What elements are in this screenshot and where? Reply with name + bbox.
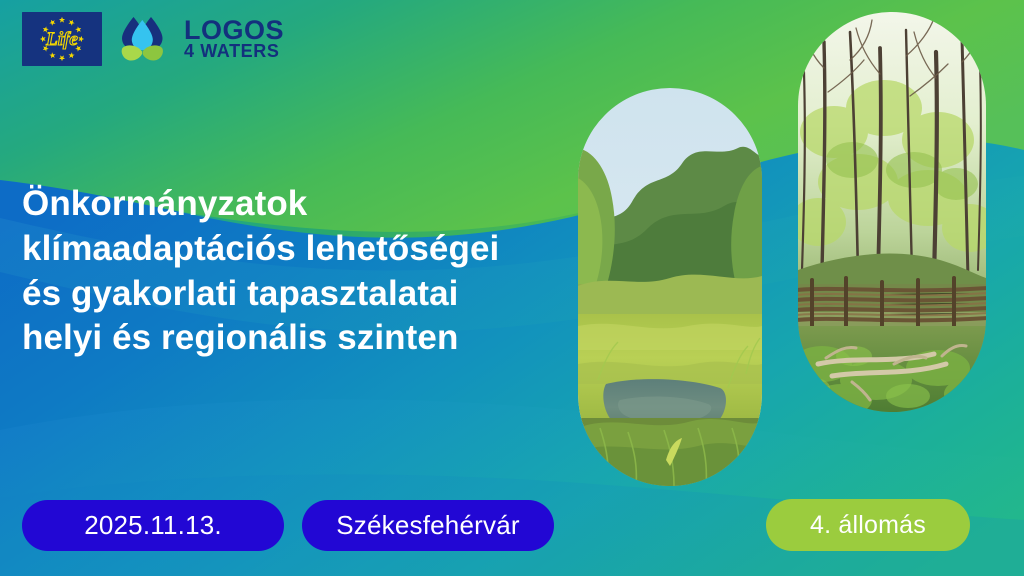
badge-city-label: Székesfehérvár [336,510,519,541]
badge-date[interactable]: 2025.11.13. [22,500,284,551]
poster-canvas: Life LOGOS 4 WATERS Önkormányzatok klíma… [0,0,1024,576]
logos-wordmark-line1: LOGOS [184,18,284,43]
photo-forest-fence [798,12,986,412]
badge-station-label: 4. állomás [810,511,926,540]
eu-life-logo: Life [22,12,102,66]
logo-row: Life LOGOS 4 WATERS [22,12,284,66]
badge-date-label: 2025.11.13. [84,510,222,541]
photo-wetland [578,88,762,486]
page-title: Önkormányzatok klímaadaptációs lehetőség… [22,182,582,361]
logos-wordmark-line2: 4 WATERS [184,43,284,60]
water-droplet-leaf-icon [118,14,176,64]
logos-4-waters-logo: LOGOS 4 WATERS [118,14,284,64]
badge-city[interactable]: Székesfehérvár [302,500,554,551]
badge-station[interactable]: 4. állomás [766,499,970,551]
eu-life-wordmark: Life [45,29,78,50]
